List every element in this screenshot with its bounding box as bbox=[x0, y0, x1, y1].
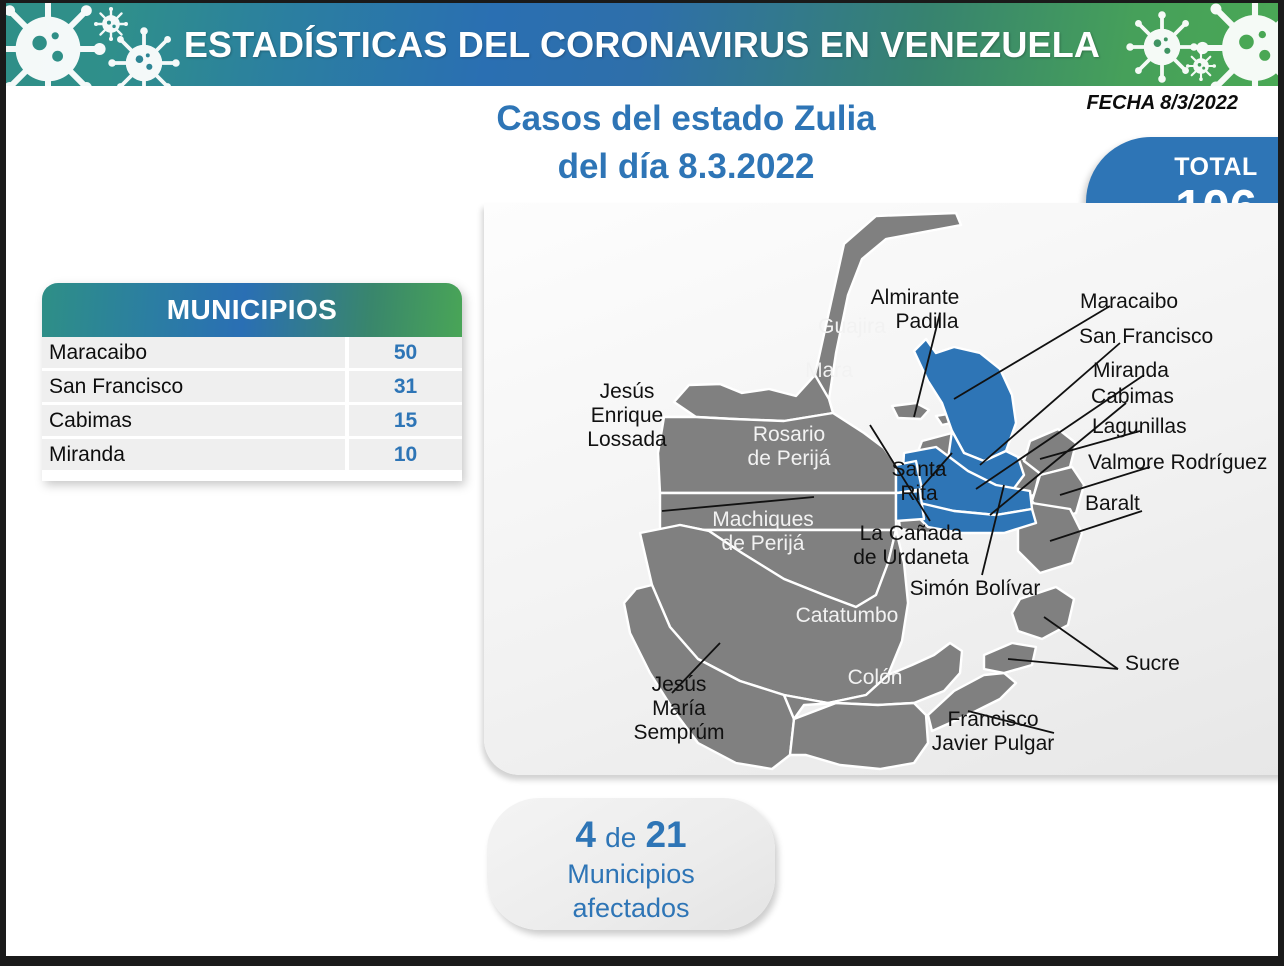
municipios-table: MUNICIPIOS Maracaibo 50 San Francisco 31… bbox=[42, 283, 462, 481]
table-cell-name: Miranda bbox=[42, 439, 345, 470]
map-label-jesus-enrique-lossada: Jesús bbox=[600, 380, 655, 403]
affected-municipalities-badge: 4 de 21 Municipios afectados bbox=[487, 798, 775, 930]
table-row: Maracaibo 50 bbox=[42, 337, 462, 368]
region-colon bbox=[790, 703, 928, 769]
map-label-francisco-javier-pulgar-2: Javier Pulgar bbox=[932, 732, 1055, 755]
map-label-jesus-enrique-lossada-2: Enrique bbox=[591, 404, 663, 427]
map-label-jesus-maria-semprum-2: María bbox=[652, 697, 706, 720]
table-cell-value: 15 bbox=[349, 405, 462, 436]
table-cell-name: Cabimas bbox=[42, 405, 345, 436]
table-cell-value: 10 bbox=[349, 439, 462, 470]
map-label-machiques-de-perija-2: de Perijá bbox=[722, 532, 805, 555]
page-title-line2: del día 8.3.2022 bbox=[376, 143, 996, 191]
infographic-page: ESTADÍSTICAS DEL CORONAVIRUS EN VENEZUEL… bbox=[0, 0, 1284, 966]
map-label-jesus-maria-semprum: Jesús bbox=[652, 673, 707, 696]
table-cell-value: 31 bbox=[349, 371, 462, 402]
map-label-san-francisco: San Francisco bbox=[1079, 325, 1213, 348]
leader-sucre-north bbox=[1044, 617, 1118, 669]
map-label-la-canada: La Cañada bbox=[860, 522, 963, 545]
affected-count: 4 bbox=[575, 814, 596, 855]
table-cell-name: San Francisco bbox=[42, 371, 345, 402]
map-label-santa-rita: Santa bbox=[892, 458, 947, 481]
map-label-francisco-javier-pulgar: Francisco bbox=[947, 708, 1038, 731]
map-label-simon-bolivar: Simón Bolívar bbox=[910, 577, 1041, 600]
page-title: Casos del estado Zulia del día 8.3.2022 bbox=[376, 95, 996, 191]
table-cell-name: Maracaibo bbox=[42, 337, 345, 368]
map-label-almirante-padilla-2: Padilla bbox=[895, 310, 958, 333]
map-label-almirante-padilla: Almirante bbox=[871, 286, 960, 309]
map-label-mara: Mara bbox=[805, 359, 853, 382]
map-label-cabimas: Cabimas bbox=[1091, 385, 1174, 408]
municipios-table-header: MUNICIPIOS bbox=[42, 283, 462, 337]
map-label-jesus-enrique-lossada-3: Lossada bbox=[587, 428, 667, 451]
map-label-santa-rita-2: Rita bbox=[900, 482, 938, 505]
affected-total: 21 bbox=[645, 814, 686, 855]
region-almirante-padilla bbox=[892, 403, 929, 419]
affected-label-line2: Municipios bbox=[487, 857, 775, 891]
table-row: San Francisco 31 bbox=[42, 371, 462, 402]
map-label-la-canada-2: de Urdaneta bbox=[853, 546, 969, 569]
map-label-rosario-de-perija-2: de Perijá bbox=[748, 447, 831, 470]
page-title-line1: Casos del estado Zulia bbox=[376, 95, 996, 143]
affected-count-line: 4 de 21 bbox=[487, 812, 775, 857]
map-label-baralt: Baralt bbox=[1085, 492, 1140, 515]
affected-de-label: de bbox=[605, 822, 636, 853]
map-label-jesus-maria-semprum-3: Semprúm bbox=[633, 721, 724, 744]
table-row: Miranda 10 bbox=[42, 439, 462, 470]
date-badge: FECHA 8/3/2022 bbox=[1086, 92, 1238, 115]
map-label-miranda: Miranda bbox=[1093, 359, 1169, 382]
map-label-guajira: Guajira bbox=[818, 315, 886, 338]
map-label-rosario-de-perija: Rosario bbox=[753, 423, 825, 446]
zulia-municipalities-map: Guajira Mara Rosario de Perijá Machiques… bbox=[484, 203, 1284, 775]
municipios-table-body: Maracaibo 50 San Francisco 31 Cabimas 15… bbox=[42, 337, 462, 481]
total-badge-label: TOTAL bbox=[1086, 153, 1284, 182]
map-label-catatumbo: Catatumbo bbox=[796, 604, 899, 627]
header-title: ESTADÍSTICAS DEL CORONAVIRUS EN VENEZUEL… bbox=[6, 24, 1278, 66]
map-label-machiques-de-perija: Machiques bbox=[712, 508, 814, 531]
affected-label-line3: afectados bbox=[487, 891, 775, 925]
map-label-valmore-rodriguez: Valmore Rodríguez bbox=[1088, 451, 1267, 474]
map-label-maracaibo: Maracaibo bbox=[1080, 290, 1178, 313]
header-banner: ESTADÍSTICAS DEL CORONAVIRUS EN VENEZUEL… bbox=[6, 3, 1278, 86]
table-row: Cabimas 15 bbox=[42, 405, 462, 436]
map-label-colon: Colón bbox=[848, 666, 903, 689]
map-label-sucre: Sucre bbox=[1125, 652, 1180, 675]
region-sucre-south bbox=[984, 643, 1036, 673]
map-panel: Guajira Mara Rosario de Perijá Machiques… bbox=[484, 203, 1284, 775]
map-label-lagunillas: Lagunillas bbox=[1092, 415, 1187, 438]
table-cell-value: 50 bbox=[349, 337, 462, 368]
